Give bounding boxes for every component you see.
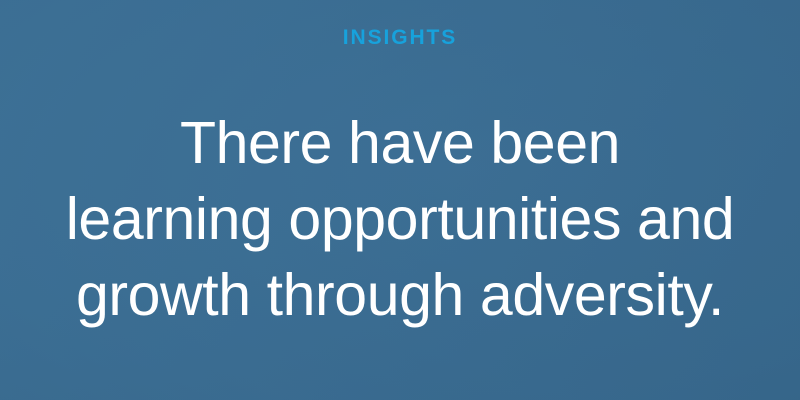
quote-text: There have been learning opportunities a… [30, 105, 770, 333]
insights-quote-card: INSIGHTS There have been learning opport… [0, 0, 800, 400]
card-content: INSIGHTS There have been learning opport… [0, 0, 800, 400]
eyebrow-label: INSIGHTS [343, 27, 457, 48]
quote-line-3: growth through adversity. [30, 257, 770, 333]
quote-line-1: There have been [30, 105, 770, 181]
quote-line-2: learning opportunities and [30, 181, 770, 257]
